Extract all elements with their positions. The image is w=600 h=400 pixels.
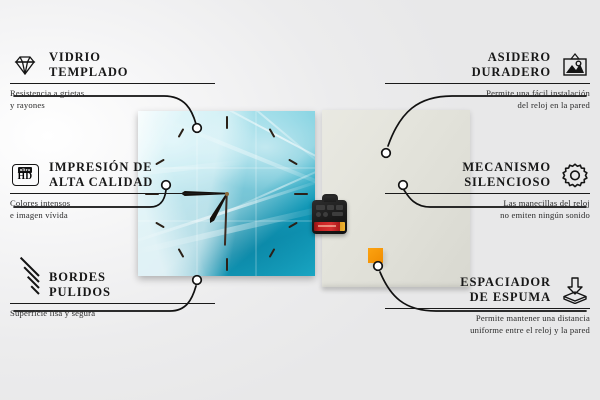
divider [385, 308, 590, 309]
feature-description: Permite mantener una distancia uniforme … [385, 313, 590, 336]
feature-bordes-pulidos: BORDES PULIDOS Superficie lisa y segura [10, 270, 215, 320]
diamond-icon [10, 50, 40, 80]
divider [10, 193, 215, 194]
feature-description: Colores intensos e imagen vívida [10, 198, 215, 221]
infographic-canvas: VIDRIO TEMPLADO Resistencia a grietas y … [0, 0, 600, 400]
polished-edges-icon [10, 270, 40, 300]
divider [10, 303, 215, 304]
feature-vidrio-templado: VIDRIO TEMPLADO Resistencia a grietas y … [10, 50, 215, 111]
foam-spacer-arrow-icon [560, 275, 590, 305]
ultra-hd-icon: ultra HD [10, 160, 40, 190]
feature-title: MECANISMO SILENCIOSO [462, 160, 551, 190]
foam-spacer [368, 248, 383, 263]
feature-impresion-alta-calidad: ultra HD IMPRESIÓN DE ALTA CALIDAD Color… [10, 160, 215, 221]
gear-icon [560, 160, 590, 190]
wall-hook-icon [322, 194, 338, 202]
feature-title: ESPACIADOR DE ESPUMA [460, 275, 551, 305]
feature-description: Permite una fácil instalación del reloj … [385, 88, 590, 111]
feature-description: Las manecillas del reloj no emiten ningú… [385, 198, 590, 221]
feature-title: BORDES PULIDOS [49, 270, 111, 300]
feature-description: Superficie lisa y segura [10, 308, 215, 320]
feature-description: Resistencia a grietas y rayones [10, 88, 215, 111]
clock-mechanism [312, 200, 347, 234]
divider [385, 193, 590, 194]
divider [385, 83, 590, 84]
picture-frame-hanging-icon [560, 50, 590, 80]
battery [314, 222, 345, 231]
feature-asidero-duradero: ASIDERO DURADERO Permite una fácil insta… [385, 50, 590, 111]
feature-title: VIDRIO TEMPLADO [49, 50, 128, 80]
feature-title: ASIDERO DURADERO [472, 50, 551, 80]
feature-title: IMPRESIÓN DE ALTA CALIDAD [49, 160, 153, 190]
feature-espaciador-de-espuma: ESPACIADOR DE ESPUMA Permite mantener un… [385, 275, 590, 336]
divider [10, 83, 215, 84]
clock-center-cap [225, 192, 229, 196]
mechanism-details [315, 204, 344, 218]
feature-mecanismo-silencioso: MECANISMO SILENCIOSO Las manecillas del … [385, 160, 590, 221]
